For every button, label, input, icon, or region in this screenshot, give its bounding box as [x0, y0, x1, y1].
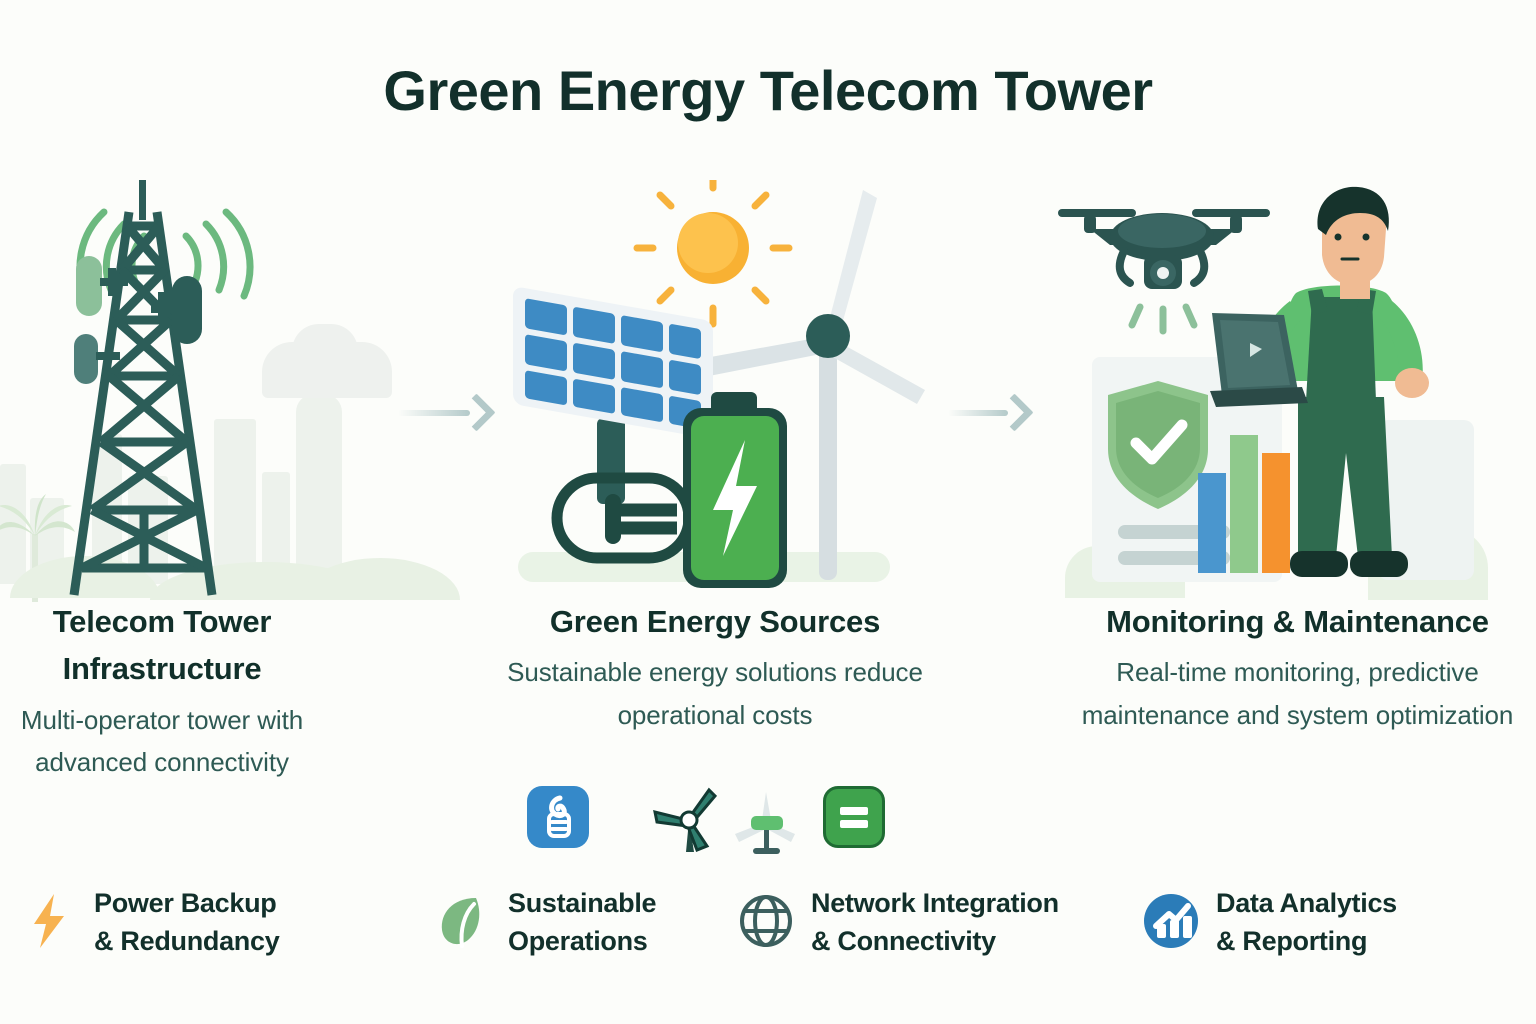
leaf-icon	[432, 890, 494, 952]
battery-icon	[683, 392, 787, 588]
column-heading: Green Energy Sources	[505, 598, 925, 645]
column-monitoring-maintenance: Monitoring & Maintenance Real-time monit…	[1055, 598, 1536, 736]
feature-power-backup[interactable]: Power Backup & Redundancy	[18, 884, 279, 961]
column-description: Sustainable energy solutions reduce oper…	[505, 651, 925, 735]
column-heading: Monitoring & Maintenance	[1055, 598, 1536, 645]
green-energy-icon-strip	[505, 786, 925, 858]
flow-arrow-1	[398, 396, 490, 430]
page-title: Green Energy Telecom Tower	[0, 58, 1536, 123]
arrow-head-icon	[457, 393, 495, 431]
green-panel-icon	[823, 786, 885, 848]
drone-icon	[1058, 209, 1270, 331]
column-telecom-tower: Telecom Tower Infrastructure Multi-opera…	[0, 598, 362, 783]
arrow-head-icon	[995, 393, 1033, 431]
infographic-canvas: Green Energy Telecom Tower	[0, 0, 1536, 1024]
feature-label: Network Integration & Connectivity	[811, 884, 1059, 961]
solar-plug-icon	[527, 786, 589, 848]
green-energy-illustration	[505, 180, 925, 600]
feature-label: Power Backup & Redundancy	[94, 884, 279, 961]
telecom-tower-illustration	[30, 180, 360, 600]
flow-arrow-2	[948, 396, 1028, 430]
tower-mast	[139, 180, 146, 220]
feature-data-analytics[interactable]: Data Analytics & Reporting	[1140, 884, 1397, 961]
column-description: Real-time monitoring, predictive mainten…	[1055, 651, 1536, 735]
boot-right	[1350, 551, 1408, 577]
neck	[1340, 281, 1370, 299]
lightning-bolt-icon	[18, 890, 80, 952]
hand-right	[1395, 368, 1429, 398]
feature-network-integration[interactable]: Network Integration & Connectivity	[735, 884, 1059, 961]
feature-label: Sustainable Operations	[508, 884, 656, 961]
column-description: Multi-operator tower with advanced conne…	[0, 699, 362, 783]
wind-turbine-light-icon	[735, 786, 797, 861]
column-green-energy: Green Energy Sources Sustainable energy …	[505, 598, 925, 736]
feature-row: Power Backup & Redundancy Sustainable Op…	[0, 884, 1536, 994]
analytics-chart-icon	[1140, 890, 1202, 952]
wind-turbine-dark-icon	[653, 786, 725, 861]
globe-icon	[735, 890, 797, 952]
feature-sustainable-operations[interactable]: Sustainable Operations	[432, 884, 656, 961]
feature-label: Data Analytics & Reporting	[1216, 884, 1397, 961]
eye	[1335, 234, 1342, 241]
boot-left	[1290, 551, 1348, 577]
column-heading: Telecom Tower Infrastructure	[0, 598, 362, 693]
eye	[1363, 234, 1370, 241]
drone-scan-beam	[1132, 307, 1194, 331]
sun-icon	[637, 180, 789, 324]
city-building	[0, 464, 26, 584]
monitoring-illustration	[1040, 185, 1470, 600]
